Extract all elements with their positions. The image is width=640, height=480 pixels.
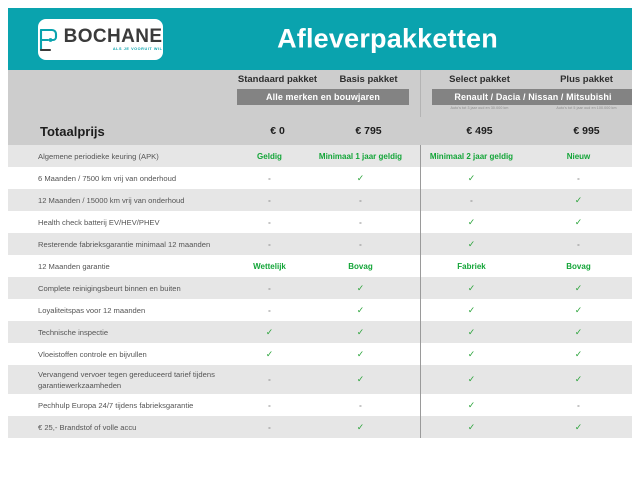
check-icon: ✓	[357, 305, 365, 315]
feature-value-cell: ✓	[525, 195, 632, 206]
feature-value-cell: ✓	[418, 400, 525, 411]
feature-label: Complete reinigingsbeurt binnen en buite…	[8, 283, 224, 294]
feature-label: 6 Maanden / 7500 km vrij van onderhoud	[8, 173, 224, 184]
feature-value-cell: -	[525, 240, 632, 249]
table-row: Pechhulp Europa 24/7 tijdens fabrieksgar…	[8, 394, 632, 416]
feature-value-cell: ✓	[315, 283, 406, 294]
table-row: Health check batterij EV/HEV/PHEV--✓✓	[8, 211, 632, 233]
feature-value-cell: -	[224, 240, 315, 249]
package-group-left: Standaard pakket Basis pakket Alle merke…	[232, 70, 414, 117]
total-price-plus: € 995	[533, 125, 632, 137]
dash-icon: -	[268, 284, 271, 293]
feature-value-cells: --✓✓	[224, 217, 632, 228]
table-row: Technische inspectie✓✓✓✓	[8, 321, 632, 343]
feature-value-cell: ✓	[418, 422, 525, 433]
feature-value-cell: -	[315, 401, 406, 410]
comparison-sheet: BOCHANE ALS JE VOORUIT WIL Afleverpakket…	[8, 8, 632, 463]
feature-value-cell: ✓	[315, 422, 406, 433]
value-text: Minimaal 2 jaar geldig	[430, 152, 513, 161]
feature-value-cells: -✓✓✓	[224, 305, 632, 316]
value-text: Geldig	[257, 152, 282, 161]
feature-value-cell: ✓	[418, 173, 525, 184]
value-text: Bovag	[348, 262, 372, 271]
table-row: 12 Maanden garantieWettelijkBovagFabriek…	[8, 255, 632, 277]
dash-icon: -	[268, 375, 271, 384]
feature-value-cell: -	[224, 375, 315, 384]
feature-value-cell: Minimaal 1 jaar geldig	[315, 152, 406, 161]
feature-value-cell: ✓	[525, 422, 632, 433]
feature-value-cell: ✓	[418, 374, 525, 385]
feature-value-cell: -	[315, 240, 406, 249]
feature-value-cell: ✓	[315, 327, 406, 338]
feature-value-cell: -	[525, 174, 632, 183]
package-name-select: Select pakket	[426, 74, 533, 85]
dash-icon: -	[359, 401, 362, 410]
page-header: BOCHANE ALS JE VOORUIT WIL Afleverpakket…	[8, 8, 632, 70]
feature-value-cell: ✓	[315, 305, 406, 316]
check-icon: ✓	[468, 305, 476, 315]
feature-value-cell: -	[224, 306, 315, 315]
dash-icon: -	[268, 306, 271, 315]
feature-value-cell: -	[224, 174, 315, 183]
feature-value-cell: ✓	[525, 349, 632, 360]
feature-value-cell: -	[315, 218, 406, 227]
feature-value-cells: --✓-	[224, 400, 632, 411]
check-icon: ✓	[357, 374, 365, 384]
dash-icon: -	[268, 423, 271, 432]
feature-value-cells: -✓✓✓	[224, 422, 632, 433]
check-icon: ✓	[468, 239, 476, 249]
feature-value-cell: -	[418, 196, 525, 205]
feature-value-cell: Minimaal 2 jaar geldig	[418, 152, 525, 161]
check-icon: ✓	[575, 217, 583, 227]
feature-value-cell: ✓	[418, 283, 525, 294]
package-scope-pill-right: Renault / Dacia / Nissan / Mitsubishi	[432, 89, 632, 105]
table-row: Algemene periodieke keuring (APK)GeldigM…	[8, 145, 632, 167]
table-group-divider	[420, 145, 421, 438]
package-name-plus: Plus pakket	[533, 74, 632, 85]
check-icon: ✓	[357, 349, 365, 359]
check-icon: ✓	[575, 349, 583, 359]
dash-icon: -	[268, 240, 271, 249]
total-price-cells: € 0 € 795 € 495 € 995	[232, 117, 632, 145]
feature-value-cell: -	[525, 401, 632, 410]
feature-value-cell: ✓	[315, 349, 406, 360]
feature-value-cell: ✓	[525, 283, 632, 294]
package-names-left: Standaard pakket Basis pakket	[232, 74, 414, 85]
feature-value-cells: WettelijkBovagFabriekBovag	[224, 262, 632, 271]
table-row: Loyaliteitspas voor 12 maanden-✓✓✓	[8, 299, 632, 321]
check-icon: ✓	[468, 422, 476, 432]
check-icon: ✓	[575, 305, 583, 315]
dash-icon: -	[268, 401, 271, 410]
value-text: Fabriek	[457, 262, 485, 271]
feature-value-cell: Fabriek	[418, 262, 525, 271]
package-group-right: Select pakket Plus pakket Renault / Daci…	[426, 70, 632, 117]
feature-label: Pechhulp Europa 24/7 tijdens fabrieksgar…	[8, 400, 224, 411]
feature-value-cell: Bovag	[525, 262, 632, 271]
feature-value-cell: ✓	[525, 217, 632, 228]
check-icon: ✓	[468, 217, 476, 227]
feature-value-cell: ✓	[418, 327, 525, 338]
feature-value-cells: -✓✓✓	[224, 374, 632, 385]
feature-value-cell: ✓	[315, 173, 406, 184]
feature-value-cells: -✓✓✓	[224, 283, 632, 294]
dash-icon: -	[268, 196, 271, 205]
feature-label: € 25,- Brandstof of volle accu	[8, 422, 224, 433]
table-row: Resterende fabrieksgarantie minimaal 12 …	[8, 233, 632, 255]
feature-value-cell: ✓	[525, 305, 632, 316]
check-icon: ✓	[468, 327, 476, 337]
feature-value-cell: -	[315, 196, 406, 205]
feature-value-cell: ✓	[224, 327, 315, 338]
package-header-band: Standaard pakket Basis pakket Alle merke…	[8, 70, 632, 117]
package-scope-pill-left: Alle merken en bouwjaren	[237, 89, 408, 105]
feature-value-cell: Bovag	[315, 262, 406, 271]
feature-label: Resterende fabrieksgarantie minimaal 12 …	[8, 239, 224, 250]
total-price-standaard: € 0	[232, 125, 323, 137]
feature-value-cells: -✓✓-	[224, 173, 632, 184]
feature-value-cell: Geldig	[224, 152, 315, 161]
value-text: Minimaal 1 jaar geldig	[319, 152, 402, 161]
value-text: Wettelijk	[253, 262, 286, 271]
feature-value-cell: ✓	[418, 239, 525, 250]
total-price-label: Totaalprijs	[40, 124, 105, 139]
feature-value-cell: Wettelijk	[224, 262, 315, 271]
package-names-right: Select pakket Plus pakket	[426, 74, 632, 85]
feature-value-cell: -	[224, 196, 315, 205]
package-sub-plus: Auto's tot 5 jaar oud en 100.000 km	[533, 106, 632, 110]
check-icon: ✓	[575, 327, 583, 337]
feature-comparison-table: Algemene periodieke keuring (APK)GeldigM…	[8, 145, 632, 438]
check-icon: ✓	[575, 422, 583, 432]
check-icon: ✓	[468, 374, 476, 384]
check-icon: ✓	[575, 374, 583, 384]
table-row: Vloeistoffen controle en bijvullen✓✓✓✓	[8, 343, 632, 365]
check-icon: ✓	[575, 195, 583, 205]
feature-label: Health check batterij EV/HEV/PHEV	[8, 217, 224, 228]
dash-icon: -	[577, 401, 580, 410]
check-icon: ✓	[575, 283, 583, 293]
check-icon: ✓	[357, 422, 365, 432]
dash-icon: -	[359, 218, 362, 227]
group-divider	[420, 70, 421, 117]
feature-value-cell: -	[224, 218, 315, 227]
package-sub-select: Auto's tot 3 jaar oud en 30.000 km	[426, 106, 533, 110]
value-text: Nieuw	[567, 152, 591, 161]
table-row: Complete reinigingsbeurt binnen en buite…	[8, 277, 632, 299]
feature-label: 12 Maanden / 15000 km vrij van onderhoud	[8, 195, 224, 206]
feature-value-cell: ✓	[418, 349, 525, 360]
feature-value-cell: ✓	[418, 305, 525, 316]
total-price-select: € 495	[426, 125, 533, 137]
dash-icon: -	[268, 218, 271, 227]
feature-value-cells: GeldigMinimaal 1 jaar geldigMinimaal 2 j…	[224, 152, 632, 161]
dash-icon: -	[577, 174, 580, 183]
package-subs-right: Auto's tot 3 jaar oud en 30.000 km Auto'…	[426, 106, 632, 110]
package-name-standaard: Standaard pakket	[232, 74, 323, 85]
check-icon: ✓	[468, 283, 476, 293]
feature-label: Vloeistoffen controle en bijvullen	[8, 349, 224, 360]
feature-value-cell: ✓	[525, 327, 632, 338]
value-text: Bovag	[566, 262, 590, 271]
feature-value-cell: Nieuw	[525, 152, 632, 161]
check-icon: ✓	[357, 283, 365, 293]
check-icon: ✓	[468, 349, 476, 359]
feature-label: Loyaliteitspas voor 12 maanden	[8, 305, 224, 316]
feature-label: Algemene periodieke keuring (APK)	[8, 151, 224, 162]
check-icon: ✓	[357, 173, 365, 183]
feature-value-cells: --✓-	[224, 239, 632, 250]
check-icon: ✓	[266, 349, 274, 359]
dash-icon: -	[268, 174, 271, 183]
feature-value-cell: -	[224, 401, 315, 410]
dash-icon: -	[470, 196, 473, 205]
feature-label: 12 Maanden garantie	[8, 261, 224, 272]
table-row: 12 Maanden / 15000 km vrij van onderhoud…	[8, 189, 632, 211]
feature-value-cells: ---✓	[224, 195, 632, 206]
dash-icon: -	[577, 240, 580, 249]
feature-value-cell: -	[224, 423, 315, 432]
check-icon: ✓	[468, 173, 476, 183]
check-icon: ✓	[266, 327, 274, 337]
table-row: Vervangend vervoer tegen gereduceerd tar…	[8, 365, 632, 394]
page-title: Afleverpakketten	[8, 24, 632, 55]
feature-value-cells: ✓✓✓✓	[224, 349, 632, 360]
feature-value-cell: ✓	[224, 349, 315, 360]
feature-label: Technische inspectie	[8, 327, 224, 338]
check-icon: ✓	[468, 400, 476, 410]
check-icon: ✓	[357, 327, 365, 337]
feature-value-cell: -	[224, 284, 315, 293]
feature-value-cells: ✓✓✓✓	[224, 327, 632, 338]
table-row: € 25,- Brandstof of volle accu-✓✓✓	[8, 416, 632, 438]
page-root: BOCHANE ALS JE VOORUIT WIL Afleverpakket…	[0, 0, 640, 480]
total-price-basis: € 795	[323, 125, 414, 137]
total-price-row: Totaalprijs € 0 € 795 € 495 € 995	[8, 117, 632, 145]
dash-icon: -	[359, 196, 362, 205]
table-row: 6 Maanden / 7500 km vrij van onderhoud-✓…	[8, 167, 632, 189]
package-name-basis: Basis pakket	[323, 74, 414, 85]
dash-icon: -	[359, 240, 362, 249]
feature-value-cell: ✓	[315, 374, 406, 385]
feature-value-cell: ✓	[525, 374, 632, 385]
feature-label: Vervangend vervoer tegen gereduceerd tar…	[8, 369, 224, 391]
feature-value-cell: ✓	[418, 217, 525, 228]
